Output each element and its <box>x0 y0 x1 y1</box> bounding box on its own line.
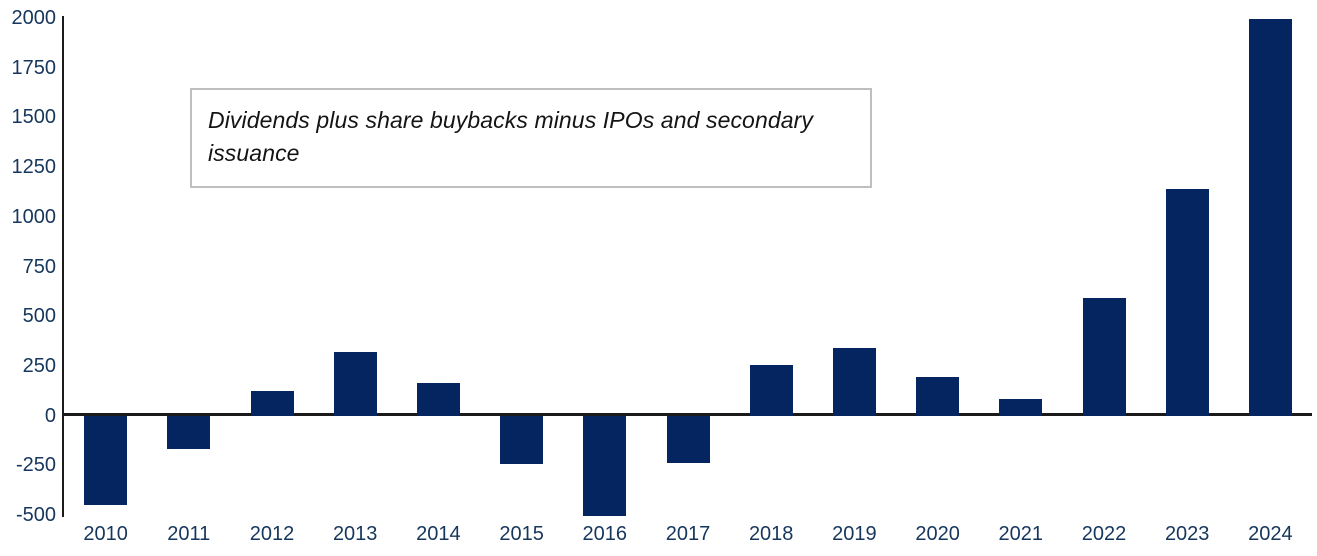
x-tick-label: 2024 <box>1225 524 1315 544</box>
annotation-textbox: Dividends plus share buybacks minus IPOs… <box>190 88 872 188</box>
plot-area: 200017501500125010007505002500-250-500 2… <box>0 0 1317 556</box>
x-tick-label: 2016 <box>560 524 650 544</box>
x-tick-label: 2015 <box>477 524 567 544</box>
x-tick-label: 2023 <box>1142 524 1232 544</box>
annotation-label: Dividends plus share buybacks minus IPOs… <box>208 104 828 169</box>
x-tick-label: 2021 <box>976 524 1066 544</box>
bar-chart: 200017501500125010007505002500-250-500 2… <box>0 0 1317 556</box>
x-tick-label: 2022 <box>1059 524 1149 544</box>
x-tick-label: 2014 <box>393 524 483 544</box>
x-tick-label: 2020 <box>893 524 983 544</box>
x-tick-label: 2017 <box>643 524 733 544</box>
x-tick-label: 2010 <box>61 524 151 544</box>
x-tick-label: 2019 <box>809 524 899 544</box>
x-tick-label: 2011 <box>144 524 234 544</box>
x-tick-label: 2013 <box>310 524 400 544</box>
x-axis-tick-labels: 2010201120122013201420152016201720182019… <box>0 0 1317 556</box>
x-tick-label: 2012 <box>227 524 317 544</box>
x-tick-label: 2018 <box>726 524 816 544</box>
